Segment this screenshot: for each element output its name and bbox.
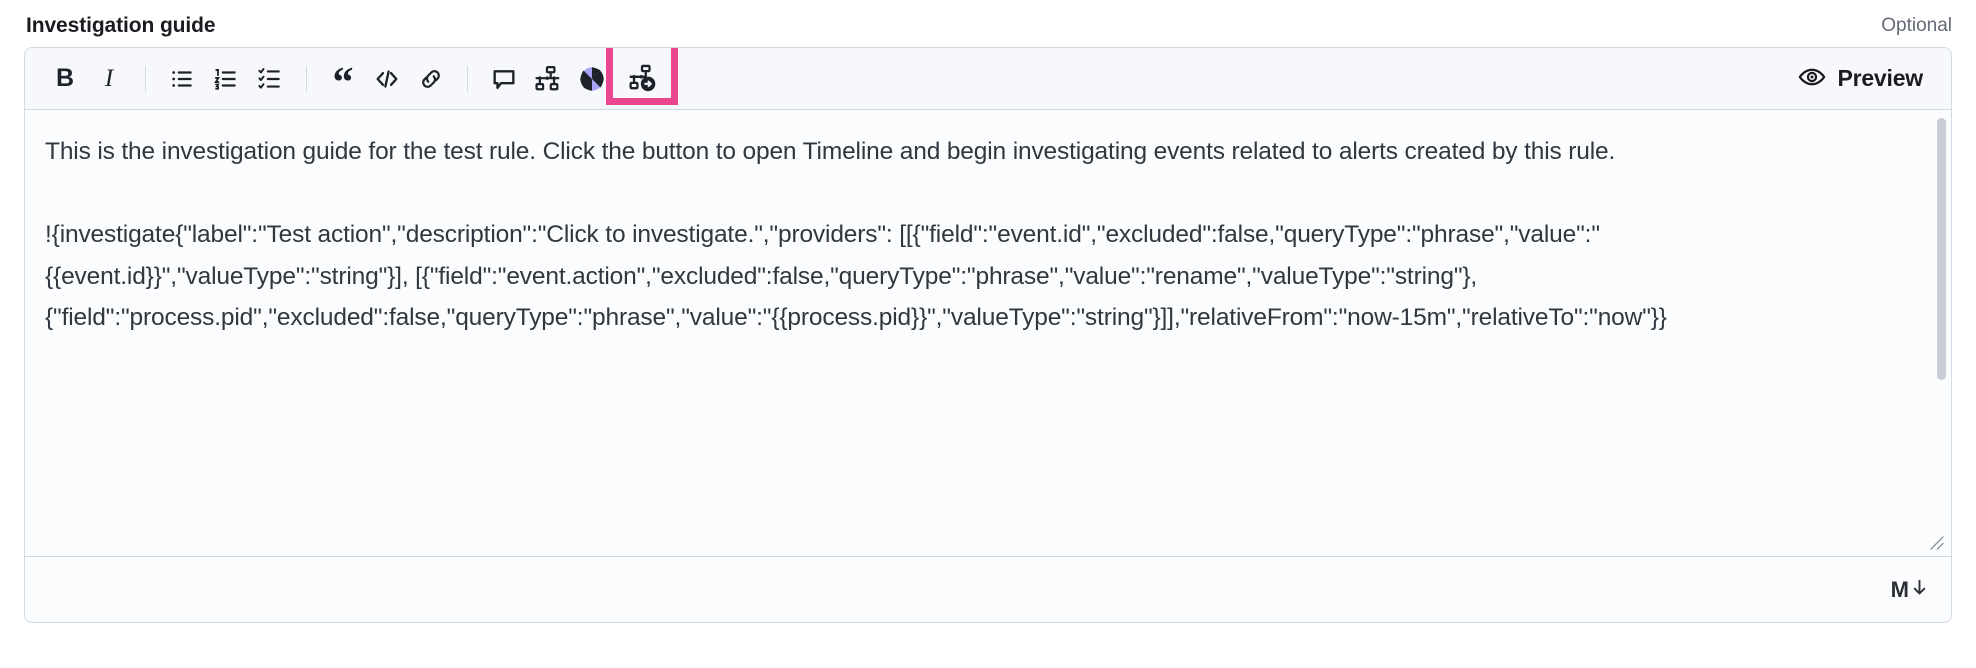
toolbar-group-text-style: B I (43, 57, 131, 101)
checklist-button[interactable] (248, 57, 292, 101)
editor-textarea-container[interactable]: This is the investigation guide for the … (25, 110, 1951, 556)
guide-paragraph-1: This is the investigation guide for the … (45, 138, 1615, 165)
timeline-icon (534, 65, 562, 93)
editor-scrollbar[interactable] (1937, 116, 1946, 550)
code-icon (373, 65, 401, 93)
toolbar-divider-3 (467, 66, 468, 92)
markdown-syntax-help-button[interactable]: M (1891, 577, 1929, 603)
timeline-investigate-icon (628, 64, 657, 93)
bold-icon: B (56, 66, 74, 91)
bullet-list-icon (169, 66, 195, 92)
page-title: Investigation guide (26, 15, 215, 36)
italic-icon: I (105, 66, 113, 91)
editor-footer: M (25, 556, 1951, 622)
preview-label: Preview (1837, 65, 1923, 92)
editor-textarea[interactable]: This is the investigation guide for the … (25, 110, 1905, 339)
timeline-button[interactable] (526, 57, 570, 101)
editor-resize-handle[interactable] (1925, 531, 1945, 551)
preview-button[interactable]: Preview (1786, 56, 1937, 102)
toolbar-group-plugins (482, 57, 670, 101)
markdown-badge-label: M (1891, 577, 1908, 603)
osquery-icon (577, 64, 607, 94)
toolbar-group-blocks: “ (321, 57, 453, 101)
quote-icon: “ (333, 72, 354, 95)
bullet-list-button[interactable] (160, 57, 204, 101)
optional-indicator: Optional (1881, 16, 1952, 35)
bold-button[interactable]: B (43, 57, 87, 101)
toolbar-group-lists (160, 57, 292, 101)
italic-button[interactable]: I (87, 57, 131, 101)
numbered-list-button[interactable] (204, 57, 248, 101)
editor-scrollbar-thumb[interactable] (1937, 118, 1946, 380)
link-icon (418, 66, 444, 92)
link-button[interactable] (409, 57, 453, 101)
comment-button[interactable] (482, 57, 526, 101)
guide-investigate-block: !{investigate{"label":"Test action","des… (45, 221, 1667, 331)
insert-investigation-highlight (620, 57, 664, 101)
checklist-icon (257, 66, 283, 92)
toolbar-divider-1 (145, 66, 146, 92)
numbered-list-icon (213, 66, 239, 92)
field-header-row: Investigation guide Optional (0, 0, 1976, 50)
toolbar-divider-2 (306, 66, 307, 92)
comment-icon (490, 65, 518, 93)
insert-timeline-investigation-button[interactable] (620, 57, 664, 101)
blockquote-button[interactable]: “ (321, 57, 365, 101)
investigation-guide-editor-page: Investigation guide Optional B I (0, 0, 1976, 668)
osquery-button[interactable] (570, 57, 614, 101)
markdown-editor: B I (24, 47, 1952, 623)
eye-icon (1798, 63, 1826, 94)
code-button[interactable] (365, 57, 409, 101)
editor-toolbar: B I (25, 48, 1951, 110)
markdown-arrow-down-icon (1910, 578, 1929, 602)
